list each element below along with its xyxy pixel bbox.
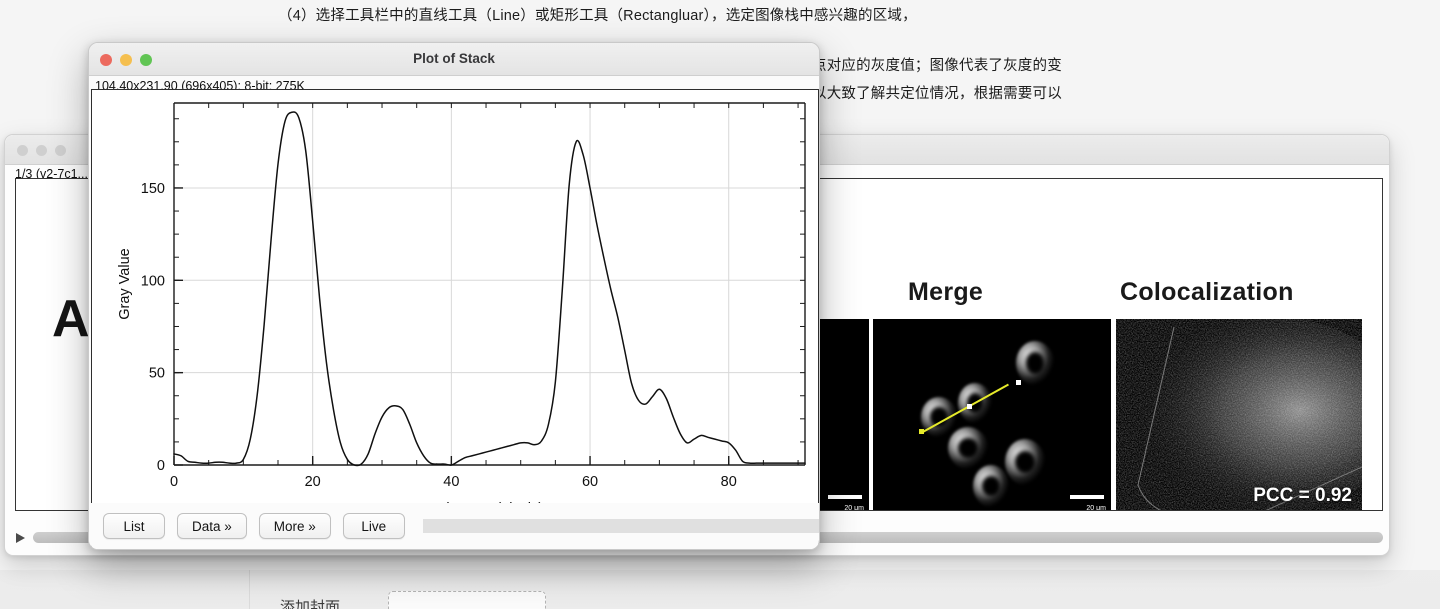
- image-panel-merge[interactable]: 20 μm: [873, 319, 1111, 511]
- colocalization-scatter: [1116, 319, 1362, 511]
- plot-button-bar: List Data » More » Live: [89, 503, 819, 549]
- document-divider: [249, 570, 250, 609]
- roi-handle-end[interactable]: [1016, 380, 1021, 385]
- play-arrow-icon[interactable]: [13, 531, 27, 545]
- live-button[interactable]: Live: [343, 513, 405, 539]
- svg-text:0: 0: [170, 474, 178, 490]
- plot-canvas[interactable]: 020406080050100150Distance (pixels)Gray …: [91, 89, 819, 550]
- close-icon[interactable]: [17, 145, 28, 156]
- plot-window-title: Plot of Stack: [89, 51, 819, 66]
- more-button[interactable]: More »: [259, 513, 331, 539]
- document-paragraph-3: 以大致了解共定位情况，根据需要可以: [812, 82, 1062, 103]
- profile-plot-svg: 020406080050100150Distance (pixels)Gray …: [92, 90, 818, 550]
- list-button[interactable]: List: [103, 513, 165, 539]
- roi-handle-start[interactable]: [919, 429, 924, 434]
- zoom-icon[interactable]: [55, 145, 66, 156]
- panel-title-merge: Merge: [908, 278, 983, 307]
- cell-blob: [1005, 439, 1045, 485]
- panel-title-colocalization: Colocalization: [1120, 278, 1294, 307]
- plot-window-titlebar[interactable]: Plot of Stack: [89, 43, 819, 76]
- minimize-icon[interactable]: [36, 145, 47, 156]
- image-panel-colocalization[interactable]: PCC = 0.92: [1116, 319, 1362, 511]
- cell-blob: [948, 427, 988, 469]
- svg-text:50: 50: [149, 366, 165, 382]
- svg-text:40: 40: [443, 474, 459, 490]
- scale-bar-label-merge: 20 μm: [1086, 505, 1106, 511]
- footer-filler: [423, 519, 819, 533]
- roi-handle-mid[interactable]: [967, 404, 972, 409]
- svg-text:Gray Value: Gray Value: [117, 248, 133, 319]
- add-cover-dropzone[interactable]: [388, 591, 546, 609]
- svg-text:60: 60: [582, 474, 598, 490]
- document-paragraph-1: （4）选择工具栏中的直线工具（Line）或矩形工具（Rectangluar），选…: [278, 4, 917, 25]
- image-panel-left[interactable]: 20 μm: [819, 319, 869, 511]
- plot-of-stack-window[interactable]: Plot of Stack 104.40x231.90 (696x405); 8…: [88, 42, 820, 550]
- scale-bar-label-left: 20 μm: [844, 505, 864, 511]
- data-button[interactable]: Data »: [177, 513, 247, 539]
- svg-text:0: 0: [157, 458, 165, 474]
- scale-bar-merge: [1070, 495, 1104, 499]
- svg-text:20: 20: [305, 474, 321, 490]
- screen-root: （4）选择工具栏中的直线工具（Line）或矩形工具（Rectangluar），选…: [0, 0, 1440, 609]
- svg-text:150: 150: [141, 181, 165, 197]
- cell-blob: [973, 465, 1009, 507]
- document-paragraph-2: 点对应的灰度值；图像代表了灰度的变: [812, 54, 1062, 75]
- svg-text:80: 80: [721, 474, 737, 490]
- scale-bar-left: [828, 495, 862, 499]
- add-cover-label: 添加封面: [280, 596, 340, 609]
- background-window-traffic-lights[interactable]: [17, 145, 66, 156]
- pcc-value-label: PCC = 0.92: [1253, 485, 1352, 507]
- cell-blob: [1016, 341, 1054, 385]
- svg-text:100: 100: [141, 273, 165, 289]
